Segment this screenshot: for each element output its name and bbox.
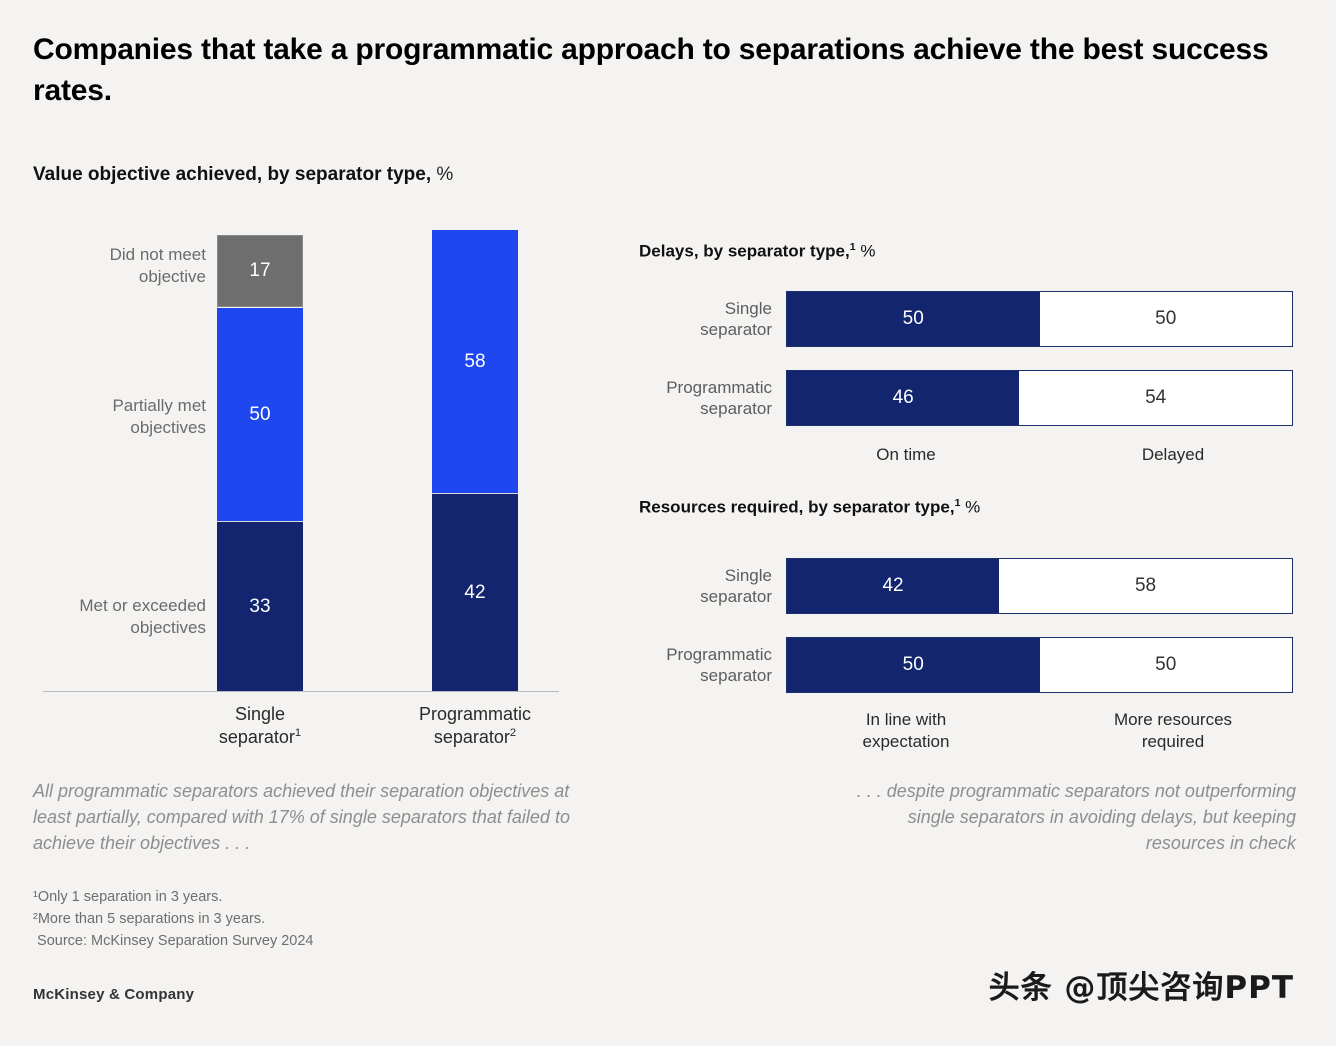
- footnote-1: ¹Only 1 separation in 3 years.: [33, 886, 313, 908]
- chart-subtitle-text: Value objective achieved, by separator t…: [33, 164, 431, 185]
- caption-left: All programmatic separators achieved the…: [33, 778, 578, 856]
- bar-fill-in-line[interactable]: 42: [787, 559, 999, 613]
- category-label-partially-met: Partially metobjectives: [33, 395, 206, 439]
- row-label-single-separator: Single separator: [630, 298, 772, 341]
- bar-rest-delayed[interactable]: 54: [1019, 371, 1292, 425]
- bar-fill-on-time[interactable]: 50: [787, 292, 1040, 346]
- x-axis-label-programmatic-separator: Programmatic separator2: [375, 703, 575, 750]
- delays-heading-text: Delays, by separator type,: [639, 242, 850, 261]
- watermark: 头条 @顶尖咨询PPT: [989, 962, 1294, 1007]
- bar-rest-more-required[interactable]: 58: [999, 559, 1292, 613]
- delays-axis-label-on-time: On time: [786, 444, 1026, 466]
- resources-bar-single[interactable]: 42 58: [786, 558, 1293, 614]
- row-label-programmatic-separator: Programmatic separator: [630, 644, 772, 687]
- category-label-met-or-exceeded: Met or exceededobjectives: [33, 595, 206, 639]
- row-label-line2: separator: [700, 666, 772, 685]
- footnote-marker-2: 2: [510, 727, 516, 739]
- resources-row-single-separator[interactable]: Single separator 42 58: [630, 558, 1293, 614]
- row-label-line1: Programmatic: [666, 645, 772, 664]
- bar-fill-in-line[interactable]: 50: [787, 638, 1040, 692]
- bar-rest-delayed[interactable]: 50: [1040, 292, 1293, 346]
- segment-did-not-meet-single[interactable]: 17: [217, 235, 303, 307]
- row-label-programmatic-separator: Programmatic separator: [630, 377, 772, 420]
- footnote-marker-1: 1: [295, 727, 301, 739]
- resources-axis-label-more-required: More resources required: [1053, 709, 1293, 753]
- chart-subtitle-unit: %: [436, 164, 453, 185]
- footnote-marker-1: 1: [955, 497, 961, 509]
- delays-chart-heading: Delays, by separator type,1 %: [639, 241, 875, 262]
- x-label-line1: Programmatic: [419, 704, 531, 724]
- row-label-line2: separator: [700, 320, 772, 339]
- segment-partially-met-single[interactable]: 50: [217, 308, 303, 521]
- delays-bar-programmatic[interactable]: 46 54: [786, 370, 1293, 426]
- resources-heading-unit: %: [965, 498, 980, 517]
- value-objective-chart: Did not meetobjective Partially metobjec…: [33, 225, 563, 695]
- x-axis-label-single-separator: Single separator1: [160, 703, 360, 750]
- segment-partially-met-programmatic[interactable]: 58: [432, 230, 518, 493]
- delays-axis-label-delayed: Delayed: [1053, 444, 1293, 466]
- segment-met-exceeded-single[interactable]: 33: [217, 521, 303, 691]
- bar-rest-more-required[interactable]: 50: [1040, 638, 1293, 692]
- chart-subtitle: Value objective achieved, by separator t…: [33, 164, 453, 186]
- x-label-line2: separator: [434, 727, 510, 747]
- row-label-line2: separator: [700, 587, 772, 606]
- footnotes: ¹Only 1 separation in 3 years. ²More tha…: [33, 886, 313, 952]
- slide-canvas: Companies that take a programmatic appro…: [0, 0, 1336, 1046]
- row-label-line1: Single: [725, 566, 772, 585]
- axis-label-line1: In line with: [866, 710, 946, 729]
- caption-right: . . . despite programmatic separators no…: [836, 778, 1296, 856]
- footnote-source: Source: McKinsey Separation Survey 2024: [33, 930, 313, 952]
- x-label-line2: separator: [219, 727, 295, 747]
- stacked-chart-axis-line: [43, 691, 559, 692]
- delays-bar-single[interactable]: 50 50: [786, 291, 1293, 347]
- x-label-line1: Single: [235, 704, 285, 724]
- axis-label-line1: More resources: [1114, 710, 1232, 729]
- row-label-line2: separator: [700, 399, 772, 418]
- axis-label-line2: expectation: [863, 732, 950, 751]
- segment-met-exceeded-programmatic[interactable]: 42: [432, 493, 518, 691]
- resources-row-programmatic-separator[interactable]: Programmatic separator 50 50: [630, 637, 1293, 693]
- footnote-2: ²More than 5 separations in 3 years.: [33, 908, 313, 930]
- page-title: Companies that take a programmatic appro…: [33, 30, 1273, 112]
- delays-row-programmatic-separator[interactable]: Programmatic separator 46 54: [630, 370, 1293, 426]
- row-label-single-separator: Single separator: [630, 565, 772, 608]
- resources-bar-programmatic[interactable]: 50 50: [786, 637, 1293, 693]
- delays-row-single-separator[interactable]: Single separator 50 50: [630, 291, 1293, 347]
- resources-axis-label-in-line: In line with expectation: [786, 709, 1026, 753]
- axis-label-line2: required: [1142, 732, 1204, 751]
- resources-chart-heading: Resources required, by separator type,1 …: [639, 497, 980, 518]
- resources-heading-text: Resources required, by separator type,: [639, 498, 955, 517]
- category-label-did-not-meet: Did not meetobjective: [33, 244, 206, 288]
- delays-heading-unit: %: [860, 242, 875, 261]
- mckinsey-logo: McKinsey & Company: [33, 986, 194, 1003]
- row-label-line1: Single: [725, 299, 772, 318]
- bar-fill-on-time[interactable]: 46: [787, 371, 1019, 425]
- row-label-line1: Programmatic: [666, 378, 772, 397]
- footnote-marker-1: 1: [850, 241, 856, 253]
